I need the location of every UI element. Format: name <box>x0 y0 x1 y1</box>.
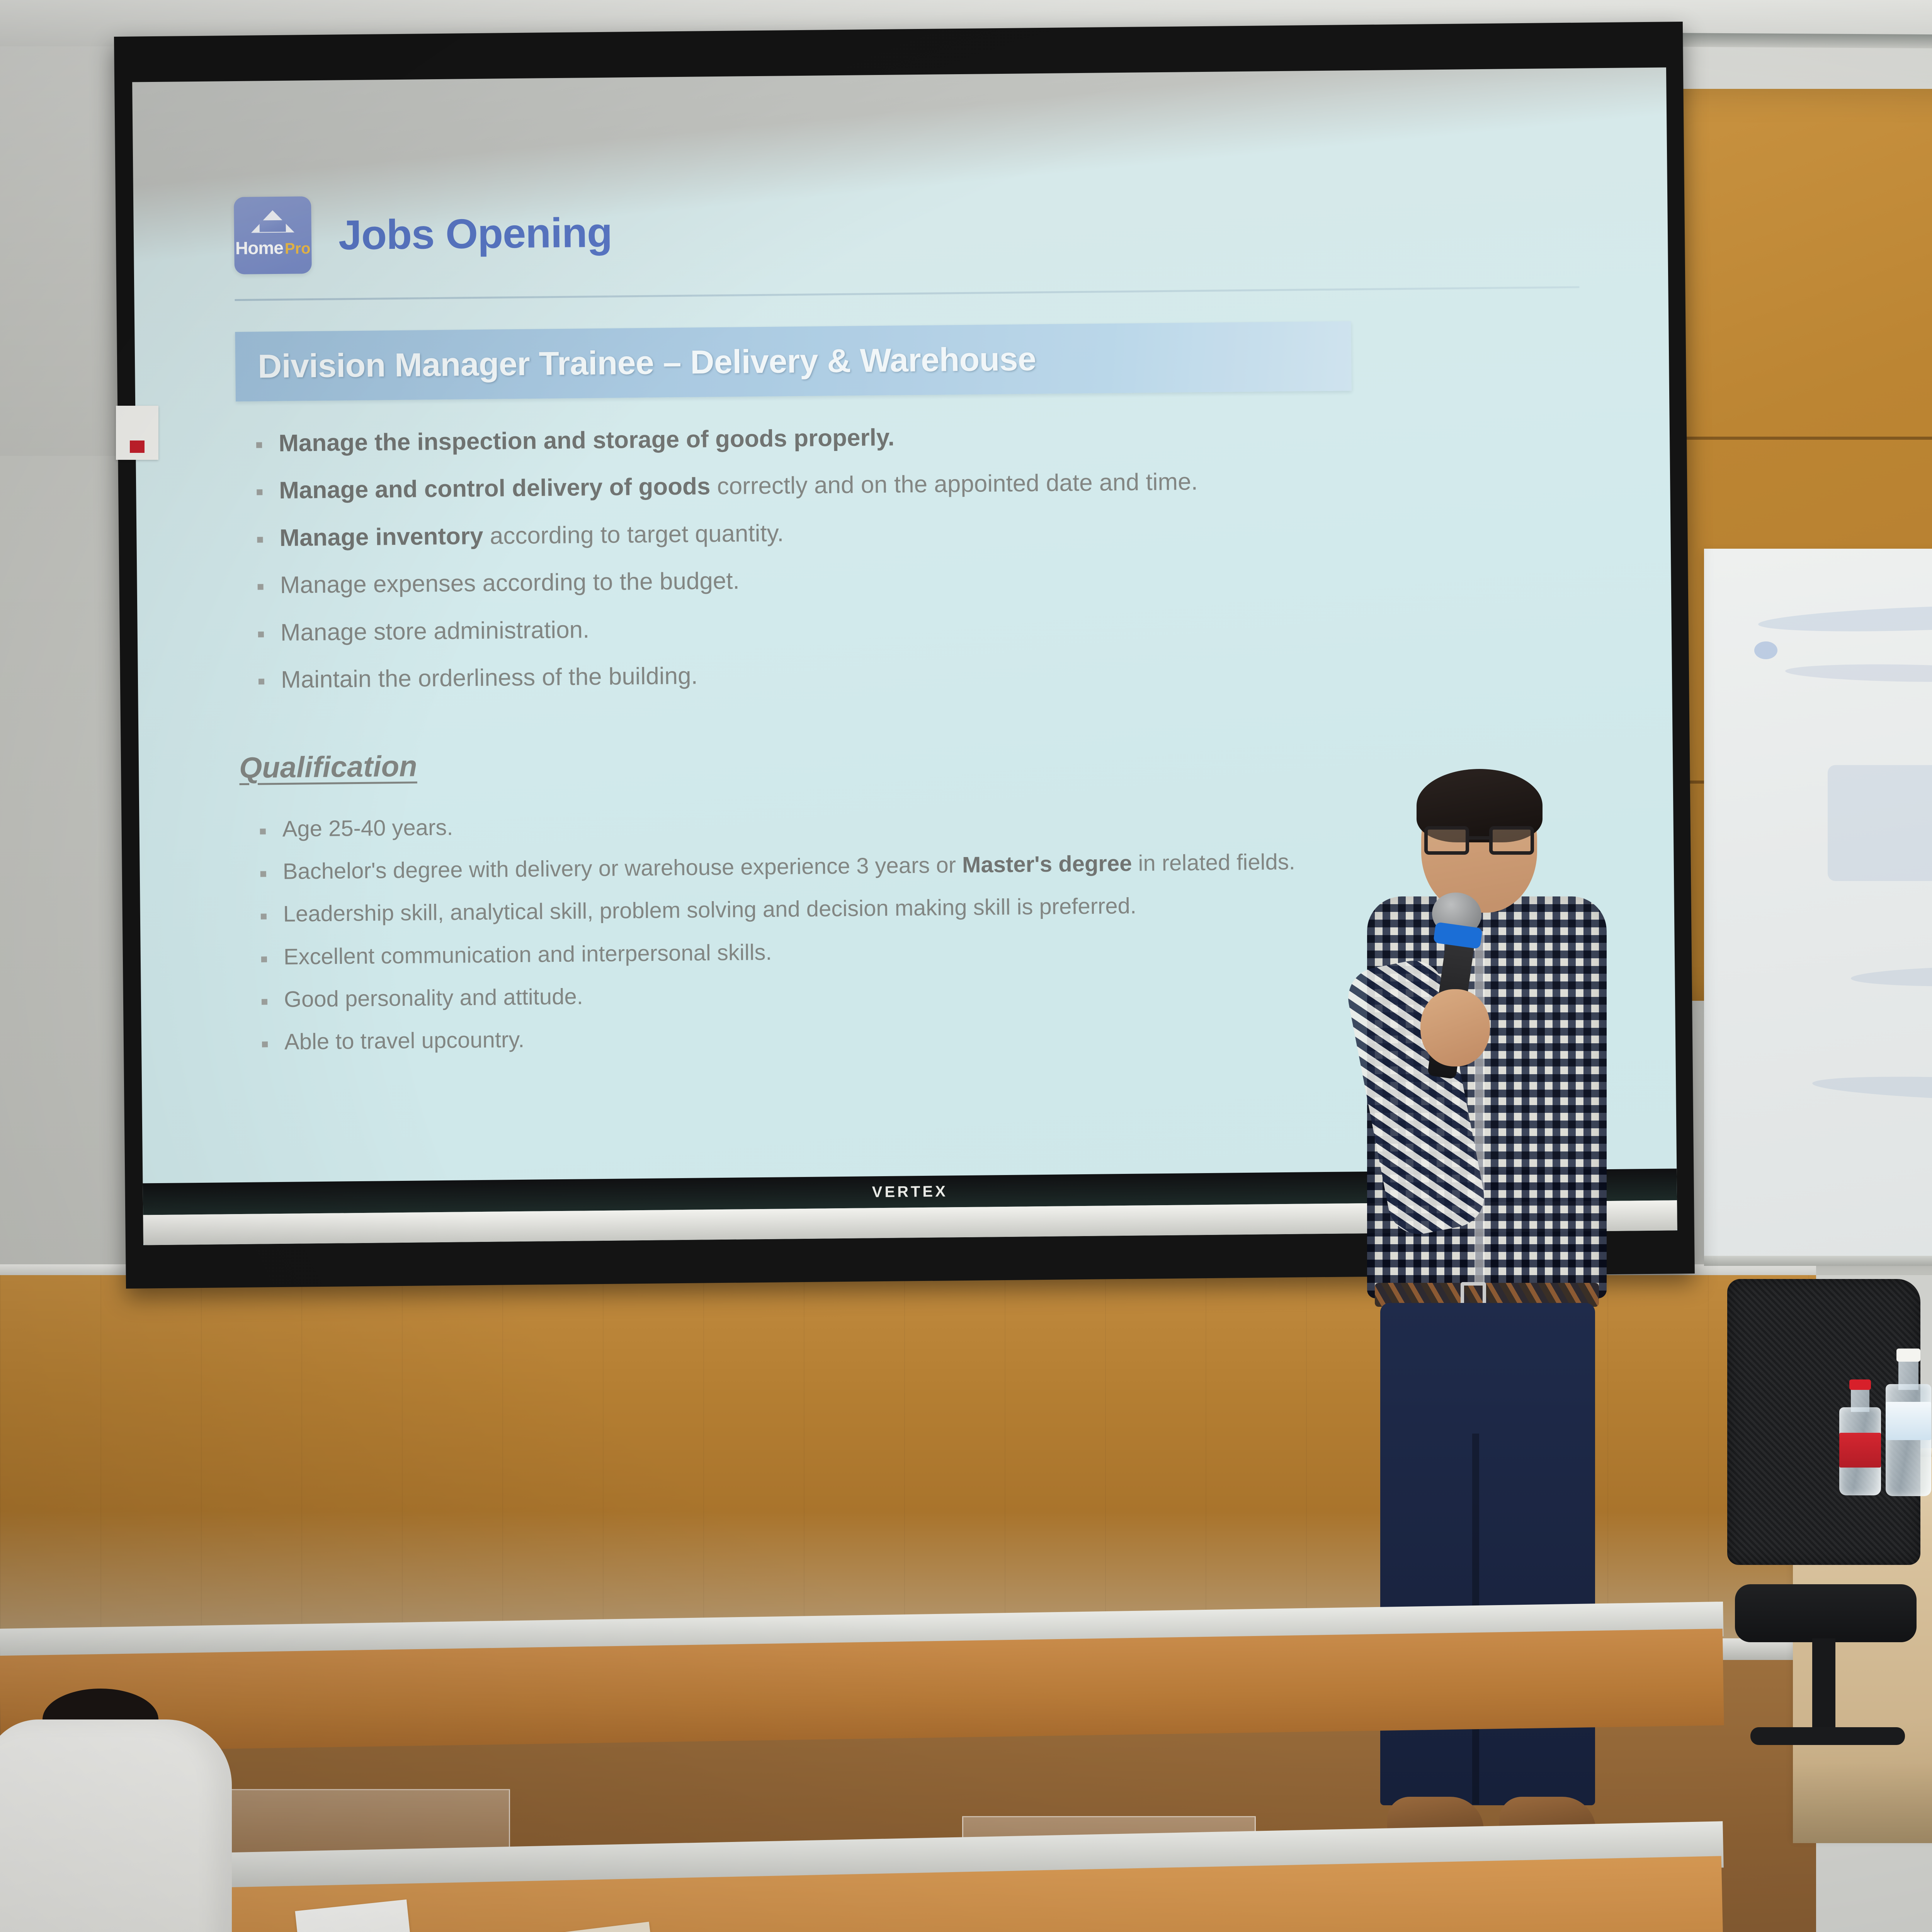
job-title-banner: Division Manager Trainee – Delivery & Wa… <box>235 321 1352 401</box>
logo-word-pro: Pro <box>285 240 311 258</box>
slide-bullet: Manage the inspection and storage of goo… <box>236 419 1581 457</box>
homepro-logo: Home Pro <box>234 196 312 274</box>
screen-brand-label: VERTEX <box>872 1183 948 1201</box>
chair-stem <box>1812 1638 1835 1735</box>
presenter-hand <box>1420 989 1490 1066</box>
slide-bullet: Manage inventory according to target qua… <box>237 514 1582 551</box>
title-divider <box>235 286 1580 301</box>
presenter-shirt-placket <box>1475 931 1485 1294</box>
responsibilities-list: Manage the inspection and storage of goo… <box>236 419 1583 693</box>
chair-seat <box>1735 1584 1917 1642</box>
slide-bullet: Manage store administration. <box>238 608 1583 646</box>
slide-header: Home Pro Jobs Opening <box>234 184 1579 274</box>
foreground-attendee <box>1924 1028 1932 1932</box>
lecture-hall-photo: Home Pro Jobs Opening Division Manager T… <box>0 0 1932 1932</box>
water-bottle-red-cap <box>1839 1379 1881 1495</box>
whiteboard <box>1704 549 1932 1260</box>
presenter-speaker <box>1345 769 1662 1901</box>
house-roof-icon <box>251 210 294 233</box>
chair-tag-logo <box>130 440 145 453</box>
job-title-text: Division Manager Trainee – Delivery & Wa… <box>258 340 1036 386</box>
chair-base <box>1750 1727 1905 1745</box>
slide-title: Jobs Opening <box>338 208 612 259</box>
slide-bullet: Maintain the orderliness of the building… <box>238 655 1583 693</box>
logo-word-home: Home <box>235 237 283 259</box>
student-uniform-shirt <box>0 1719 232 1932</box>
eyeglasses-icon <box>1424 826 1534 855</box>
slide-bullet: Manage and control delivery of goods cor… <box>236 466 1581 504</box>
student-front-row <box>0 1689 340 1932</box>
slide-bullet: Manage expenses according to the budget. <box>237 561 1582 599</box>
whiteboard-tray <box>1704 1256 1932 1266</box>
